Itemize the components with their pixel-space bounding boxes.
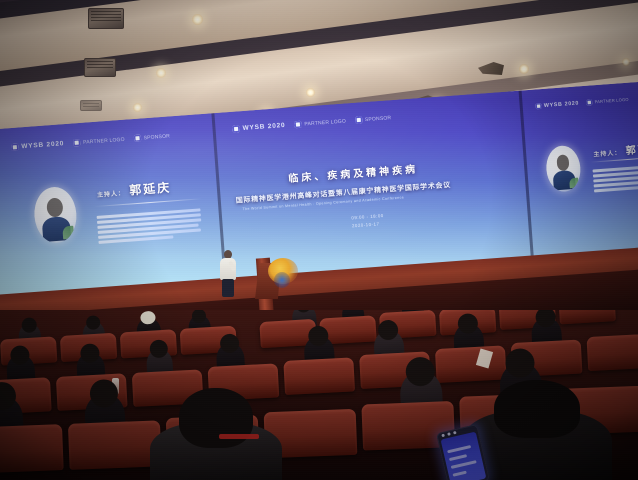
ceiling-spotlight [306, 88, 315, 97]
logo-label: PARTNER LOGO [83, 136, 125, 145]
globe-icon [11, 144, 18, 151]
air-vent-icon [84, 58, 116, 77]
host-prefix-label: 主持人： [593, 150, 621, 158]
host-label-group-2: 主持人： 郭延庆 [593, 138, 638, 161]
person-head [89, 379, 118, 408]
logo-label: WYSB 2020 [544, 100, 580, 108]
phone-content-line [447, 445, 471, 453]
person-head [457, 313, 478, 334]
person-head [535, 310, 556, 328]
host-label-group: 主持人： 郭延庆 [96, 178, 172, 201]
person-head [10, 345, 30, 365]
square-icon [73, 139, 80, 146]
person-head [220, 333, 240, 353]
portrait-leaf-decoration [62, 226, 74, 239]
portrait-leaf-decoration [569, 178, 579, 189]
square-icon [294, 121, 301, 128]
portrait-head [46, 198, 63, 218]
conference-subtitle: 国际精神医学港州高峰对话暨第八届康宁精神医学国际学术会议 [235, 180, 451, 206]
person-head [21, 317, 37, 333]
person-head [192, 310, 207, 323]
auditorium-seating [0, 310, 638, 480]
logo-label: SPONSOR [365, 115, 392, 123]
phone-content-line [453, 471, 467, 477]
person-head [378, 320, 399, 341]
seat [587, 333, 638, 371]
seat [68, 420, 162, 469]
person-head [308, 325, 329, 346]
screen-logo-row-3: WYSB 2020 PARTNER LOGO [536, 97, 629, 110]
globe-icon [232, 125, 239, 132]
host-portrait-avatar [32, 186, 78, 245]
seat [558, 310, 615, 324]
phone-content-line [451, 460, 477, 469]
red-lanyard [219, 434, 259, 439]
logo-partner: PARTNER LOGO [73, 136, 125, 147]
person-head [179, 388, 253, 448]
person-head [505, 348, 535, 378]
logo-label: PARTNER LOGO [594, 97, 628, 104]
logo-sponsor: SPONSOR [355, 114, 392, 124]
logo-sponsor: SPONSOR [133, 132, 170, 142]
person-head [80, 343, 100, 363]
ceiling-spotlight [156, 68, 166, 78]
logo-wysb: WYSB 2020 [11, 140, 64, 151]
logo-label: WYSB 2020 [21, 140, 64, 150]
conference-time: 09:00 - 18:00 [351, 213, 384, 222]
logo-partner: PARTNER LOGO [586, 97, 629, 106]
conference-date: 2020-10-17 [352, 221, 380, 230]
audience-person-foreground [150, 422, 282, 480]
portrait-body [42, 216, 71, 241]
speaker-legs [222, 279, 234, 297]
seat [435, 345, 507, 383]
seat [283, 357, 355, 395]
person-head [149, 339, 168, 358]
host-portrait-avatar-2 [545, 144, 582, 192]
person-head [86, 315, 101, 330]
portrait-head [556, 154, 570, 171]
logo-wysb: WYSB 2020 [232, 122, 285, 133]
logo-label: SPONSOR [143, 133, 170, 141]
host-name: 郭延庆 [625, 143, 638, 157]
host-underline-divider-2 [590, 156, 638, 163]
air-vent-icon [80, 100, 102, 111]
ceiling-spotlight [622, 58, 630, 66]
flower-arrangement [268, 258, 298, 284]
conference-headline: 临床、疾病及精神疾病 [288, 160, 419, 184]
air-vent-icon [88, 8, 124, 29]
screen-logo-row: WYSB 2020 PARTNER LOGO SPONSOR [11, 132, 170, 151]
screen-panel-divider [519, 91, 535, 269]
stage-speaker [219, 250, 237, 296]
seat [0, 424, 64, 473]
person-head-with-cap [140, 311, 156, 325]
logo-label: PARTNER LOGO [304, 118, 346, 127]
logo-label: WYSB 2020 [242, 122, 285, 132]
square-icon [355, 116, 362, 123]
logo-wysb: WYSB 2020 [536, 100, 580, 109]
square-icon [133, 135, 140, 142]
conference-photo-scene: WYSB 2020 PARTNER LOGO SPONSOR 主持人： [0, 0, 638, 480]
person-head [296, 310, 312, 313]
host-bio-text [97, 208, 203, 244]
phone-content-line [449, 454, 467, 461]
globe-icon [536, 103, 542, 109]
ceiling-spotlight [133, 103, 142, 112]
screen-logo-row-2: WYSB 2020 PARTNER LOGO SPONSOR [232, 114, 391, 133]
logo-partner: PARTNER LOGO [294, 117, 346, 128]
portrait-body [552, 170, 576, 191]
ceiling-spotlight [192, 14, 203, 25]
phone-screen [441, 432, 487, 480]
person-head [405, 356, 435, 386]
conference-english-subtitle: The World Summit on Mental Health · Open… [242, 195, 404, 211]
square-icon [586, 99, 592, 105]
person-head [494, 380, 580, 438]
host-bio-text-2 [593, 164, 638, 192]
host-underline-divider [94, 198, 202, 207]
host-prefix-label: 主持人： [97, 191, 125, 199]
ceiling-spotlight [519, 64, 529, 74]
host-name: 郭延庆 [129, 180, 172, 197]
